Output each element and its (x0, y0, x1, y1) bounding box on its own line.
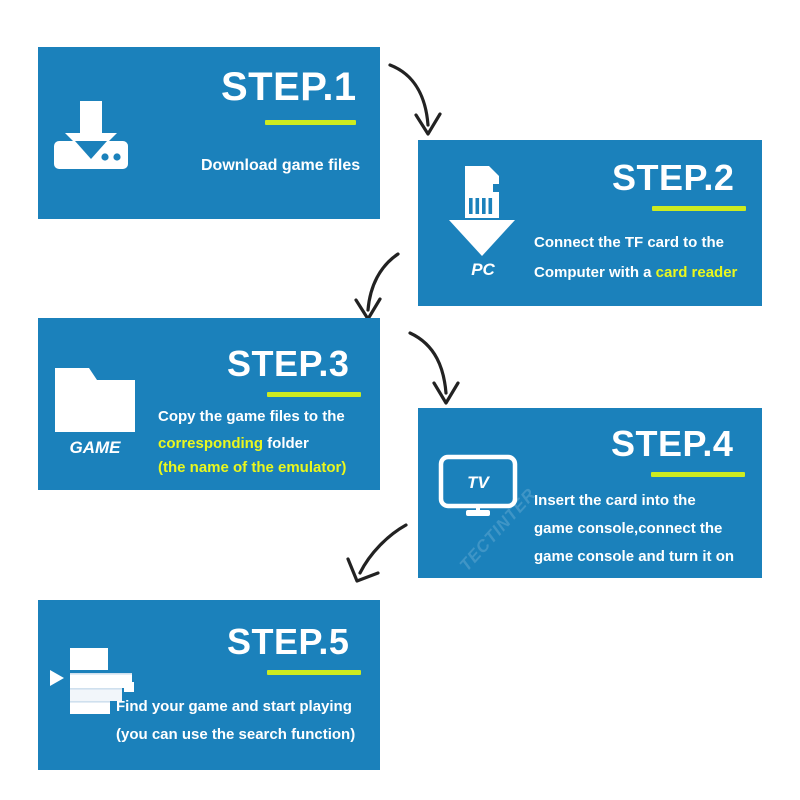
text-segment: Find your game and start playing (116, 698, 352, 715)
step-title-4: STEP.4 (611, 426, 733, 462)
tv-screen-icon: TV (430, 452, 526, 522)
text-segment-highlight: card reader (656, 264, 738, 281)
text-segment: Computer with a (534, 264, 656, 281)
arrow-step1-to-step2 (382, 55, 452, 145)
text-segment: game console,connect the (534, 520, 722, 537)
icon-label-game: GAME (49, 438, 141, 458)
step-panel-1: STEP.1 Download game files (38, 47, 380, 219)
step-body-line-4-3: game console and turn it on (534, 548, 734, 565)
text-segment-highlight: (the name of the emulator) (158, 459, 346, 476)
step-body-line-2-1: Connect the TF card to the (534, 234, 724, 251)
svg-text:TV: TV (467, 473, 490, 492)
step-underline-4 (651, 472, 745, 477)
game-folder-icon (49, 360, 141, 438)
arrow-step2-to-step3 (340, 248, 410, 328)
step-body-line-3-3: (the name of the emulator) (158, 459, 346, 476)
icon-label-pc: PC (437, 260, 529, 280)
step-body-line-4-1: Insert the card into the (534, 492, 696, 509)
step-body-line-4-2: game console,connect the (534, 520, 722, 537)
text-segment: folder (263, 435, 309, 452)
step-underline-5 (267, 670, 361, 675)
download-to-drive-icon (49, 97, 133, 173)
arrow-step4-to-step5 (338, 515, 418, 600)
text-segment: Copy the game files to the (158, 408, 345, 425)
step-body-line-2-2: Computer with a card reader (534, 264, 737, 281)
text-segment: (you can use the search function) (116, 726, 355, 743)
step-title-5: STEP.5 (227, 624, 349, 660)
step-underline-1 (265, 120, 356, 125)
step-panel-2: PC STEP.2 Connect the TF card to the Com… (418, 140, 762, 306)
step-panel-5: STEP.5 Find your game and start playing … (38, 600, 380, 770)
text-segment: game console and turn it on (534, 548, 734, 565)
step-title-3: STEP.3 (227, 346, 349, 382)
text-segment: Insert the card into the (534, 492, 696, 509)
step-underline-2 (652, 206, 746, 211)
infographic-canvas: STEP.1 Download game files (0, 0, 800, 800)
step-body-line-3-1: Copy the game files to the (158, 408, 345, 425)
microsd-card-to-pc-icon (437, 162, 529, 262)
text-segment: Connect the TF card to the (534, 234, 724, 251)
arrow-step3-to-step4 (402, 325, 472, 413)
text-segment: Download game files (201, 157, 360, 174)
step-body-line-5-1: Find your game and start playing (116, 698, 352, 715)
step-title-2: STEP.2 (612, 160, 734, 196)
text-segment-highlight: corresponding (158, 435, 263, 452)
step-underline-3 (267, 392, 361, 397)
step-body-line-3-2: corresponding folder (158, 435, 309, 452)
step-body-line-5-2: (you can use the search function) (116, 726, 355, 743)
step-body-line-1-1: Download game files (201, 157, 360, 175)
step-title-1: STEP.1 (221, 67, 357, 107)
step-panel-4: TECTINTER TV STEP.4 Insert the card into… (418, 408, 762, 578)
step-panel-3: GAME STEP.3 Copy the game files to the c… (38, 318, 380, 490)
